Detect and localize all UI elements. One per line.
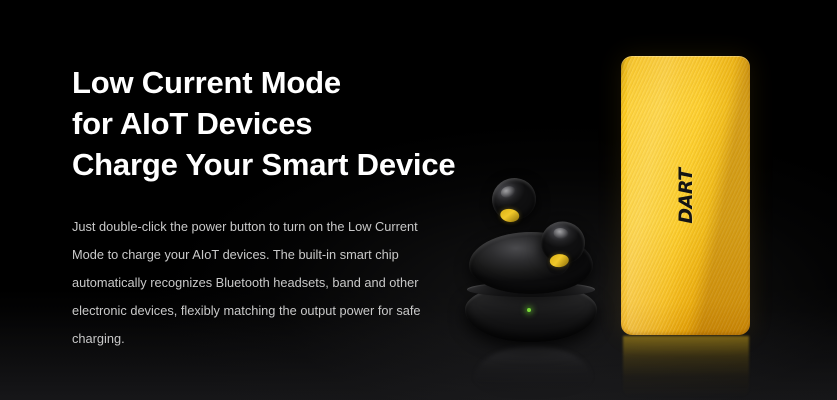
power-bank-brand-logo: DART — [675, 168, 697, 223]
earbud-right-highlight — [553, 227, 570, 240]
power-bank-sheen — [627, 56, 679, 335]
body-description: Just double-click the power button to tu… — [72, 185, 440, 353]
page-title: Low Current Mode for AIoT Devices Charge… — [72, 62, 472, 185]
earbud-left-highlight — [500, 185, 517, 200]
headline-line-3: Charge Your Smart Device — [72, 144, 472, 185]
power-bank-product-image: DART — [621, 56, 750, 335]
copy-block: Low Current Mode for AIoT Devices Charge… — [72, 62, 472, 353]
headline-line-1: Low Current Mode — [72, 62, 472, 103]
promo-banner: Low Current Mode for AIoT Devices Charge… — [0, 0, 837, 400]
earbuds-product-image — [455, 180, 625, 400]
earbuds-reflection — [475, 346, 591, 398]
headline-line-2: for AIoT Devices — [72, 103, 472, 144]
charging-case-led — [527, 308, 531, 312]
